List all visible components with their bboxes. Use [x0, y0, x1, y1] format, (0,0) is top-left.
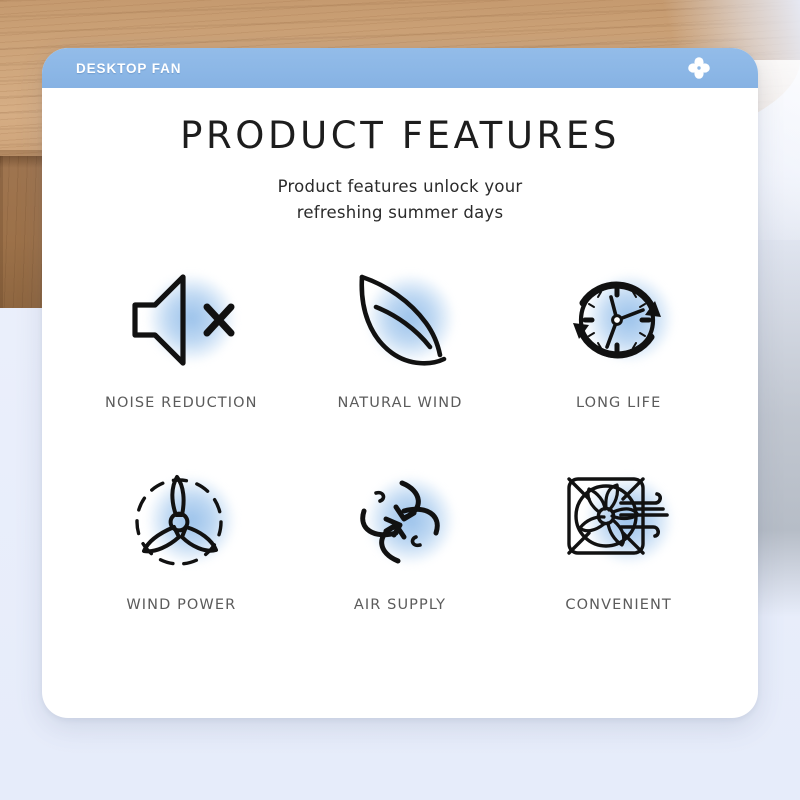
box-fan-wind-icon — [553, 463, 685, 581]
header-title: DESKTOP FAN — [76, 61, 181, 76]
scene: DESKTOP FAN PRODUCT FEATURES Product fea… — [0, 0, 800, 800]
subtitle-line-1: Product features unlock your — [72, 174, 728, 200]
card-header-bar: DESKTOP FAN — [42, 48, 758, 88]
product-features-card: DESKTOP FAN PRODUCT FEATURES Product fea… — [42, 48, 758, 718]
clock-rotate-icon — [553, 261, 685, 379]
feature-label: NOISE REDUCTION — [105, 395, 258, 411]
leaf-icon — [334, 261, 466, 379]
feature-item-noise-reduction[interactable]: NOISE REDUCTION — [72, 261, 291, 411]
hero-subtitle: Product features unlock your refreshing … — [72, 174, 728, 225]
feature-item-wind-power[interactable]: WIND POWER — [72, 463, 291, 613]
feature-item-convenient[interactable]: CONVENIENT — [509, 463, 728, 613]
feature-label: AIR SUPPLY — [354, 597, 446, 613]
page-title: PRODUCT FEATURES — [72, 114, 728, 157]
fan-flower-icon — [686, 55, 712, 81]
feature-label: LONG LIFE — [576, 395, 661, 411]
speaker-mute-icon — [115, 261, 247, 379]
feature-grid: NOISE REDUCTION NATURAL WIND — [72, 261, 728, 613]
subtitle-line-2: refreshing summer days — [72, 200, 728, 226]
feature-label: NATURAL WIND — [337, 395, 462, 411]
feature-item-long-life[interactable]: LONG LIFE — [509, 261, 728, 411]
feature-label: CONVENIENT — [565, 597, 671, 613]
air-circulation-icon — [334, 463, 466, 581]
card-body: PRODUCT FEATURES Product features unlock… — [42, 88, 758, 613]
feature-label: WIND POWER — [126, 597, 236, 613]
feature-item-natural-wind[interactable]: NATURAL WIND — [291, 261, 510, 411]
wind-turbine-icon — [115, 463, 247, 581]
feature-item-air-supply[interactable]: AIR SUPPLY — [291, 463, 510, 613]
